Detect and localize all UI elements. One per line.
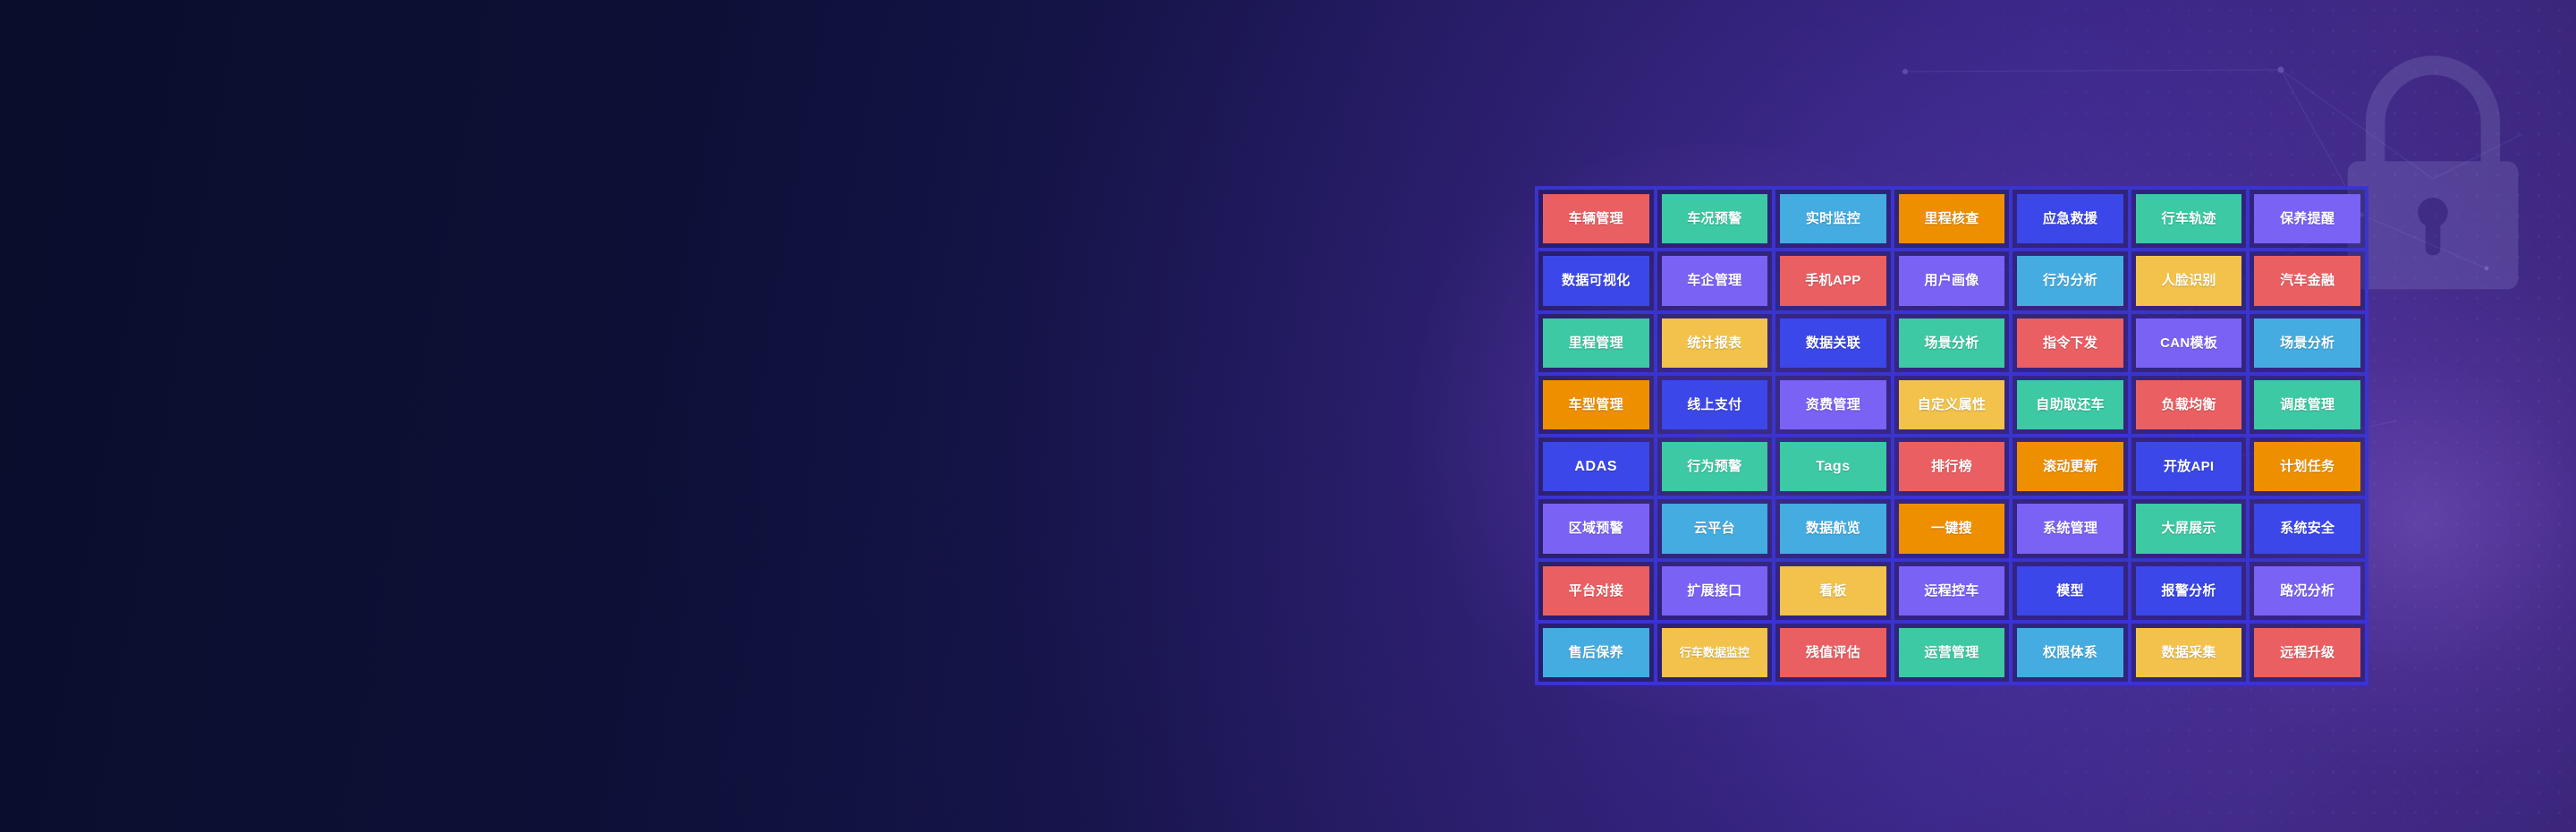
tile-chip[interactable]: 行车数据监控 (1662, 628, 1768, 677)
tile-cell[interactable]: 统计报表 (1656, 312, 1775, 374)
tile-chip[interactable]: 数据采集 (2136, 628, 2242, 677)
tile-cell[interactable]: 排行榜 (1893, 436, 2012, 497)
page-canvas: 车辆管理车况预警实时监控里程核查应急救援行车轨迹保养提醒数据可视化车企管理手机A… (0, 0, 2576, 832)
tile-chip[interactable]: 系统管理 (2017, 504, 2123, 553)
tile-cell[interactable]: 系统管理 (2011, 497, 2130, 559)
tile-cell[interactable]: 场景分析 (2248, 312, 2367, 374)
tile-cell[interactable]: 残值评估 (1774, 622, 1893, 683)
tile-chip[interactable]: 车况预警 (1662, 194, 1768, 243)
tile-cell[interactable]: 里程核查 (1893, 188, 2012, 250)
tile-chip[interactable]: 汽车金融 (2254, 256, 2360, 305)
tile-cell[interactable]: 售后保养 (1537, 622, 1656, 683)
tile-cell[interactable]: 行车数据监控 (1656, 622, 1775, 683)
tile-chip[interactable]: 人脸识别 (2136, 256, 2242, 305)
tile-cell[interactable]: 自定义属性 (1893, 374, 2012, 436)
tile-chip[interactable]: 里程管理 (1543, 318, 1649, 368)
tile-cell[interactable]: 调度管理 (2248, 374, 2367, 436)
tile-cell[interactable]: 数据可视化 (1537, 250, 1656, 311)
tile-chip[interactable]: 指令下发 (2017, 318, 2123, 368)
tile-chip[interactable]: 售后保养 (1543, 628, 1649, 677)
tile-chip[interactable]: 实时监控 (1780, 194, 1886, 243)
tile-chip[interactable]: 远程升级 (2254, 628, 2360, 677)
tile-chip[interactable]: 车型管理 (1543, 380, 1649, 429)
tile-chip[interactable]: 资费管理 (1780, 380, 1886, 429)
tile-cell[interactable]: 车辆管理 (1537, 188, 1656, 250)
tile-chip[interactable]: 场景分析 (2254, 318, 2360, 368)
tile-chip[interactable]: 权限体系 (2017, 628, 2123, 677)
tile-cell[interactable]: 数据关联 (1774, 312, 1893, 374)
tile-chip[interactable]: 报警分析 (2136, 566, 2242, 616)
tile-chip[interactable]: 线上支付 (1662, 380, 1768, 429)
tile-cell[interactable]: 用户画像 (1893, 250, 2012, 311)
tile-chip[interactable]: 运营管理 (1899, 628, 2005, 677)
tile-cell[interactable]: 运营管理 (1893, 622, 2012, 683)
tile-chip[interactable]: Tags (1780, 442, 1886, 491)
tile-cell[interactable]: 系统安全 (2248, 497, 2367, 559)
tile-cell[interactable]: 实时监控 (1774, 188, 1893, 250)
tile-chip[interactable]: 里程核查 (1899, 194, 2005, 243)
tile-chip[interactable]: 用户画像 (1899, 256, 2005, 305)
feature-tile-grid: 车辆管理车况预警实时监控里程核查应急救援行车轨迹保养提醒数据可视化车企管理手机A… (1535, 186, 2368, 685)
tile-cell[interactable]: 汽车金融 (2248, 250, 2367, 311)
tile-cell[interactable]: 开放API (2130, 436, 2249, 497)
tile-cell[interactable]: 场景分析 (1893, 312, 2012, 374)
tile-cell[interactable]: 云平台 (1656, 497, 1775, 559)
tile-cell[interactable]: 权限体系 (2011, 622, 2130, 683)
tile-chip[interactable]: 车企管理 (1662, 256, 1768, 305)
tile-chip[interactable]: 负载均衡 (2136, 380, 2242, 429)
tile-cell[interactable]: Tags (1774, 436, 1893, 497)
tile-chip[interactable]: 排行榜 (1899, 442, 2005, 491)
tile-chip[interactable]: 区域预警 (1543, 504, 1649, 553)
tile-cell[interactable]: 计划任务 (2248, 436, 2367, 497)
tile-chip[interactable]: 行车轨迹 (2136, 194, 2242, 243)
tile-chip[interactable]: 系统安全 (2254, 504, 2360, 553)
tile-chip[interactable]: 滚动更新 (2017, 442, 2123, 491)
tile-chip[interactable]: 平台对接 (1543, 566, 1649, 616)
tile-cell[interactable]: 里程管理 (1537, 312, 1656, 374)
tile-chip[interactable]: 计划任务 (2254, 442, 2360, 491)
tile-cell[interactable]: 手机APP (1774, 250, 1893, 311)
tile-cell[interactable]: 行车轨迹 (2130, 188, 2249, 250)
tile-cell[interactable]: 模型 (2011, 560, 2130, 622)
tile-chip[interactable]: 调度管理 (2254, 380, 2360, 429)
tile-chip[interactable]: ADAS (1543, 442, 1649, 491)
tile-chip[interactable]: 看板 (1780, 566, 1886, 616)
tile-chip[interactable]: 自定义属性 (1899, 380, 2005, 429)
tile-cell[interactable]: 扩展接口 (1656, 560, 1775, 622)
tile-cell[interactable]: 区域预警 (1537, 497, 1656, 559)
tile-cell[interactable]: 线上支付 (1656, 374, 1775, 436)
tile-chip[interactable]: 模型 (2017, 566, 2123, 616)
tile-cell[interactable]: 数据航览 (1774, 497, 1893, 559)
tile-cell[interactable]: 保养提醒 (2248, 188, 2367, 250)
tile-chip[interactable]: 一键搜 (1899, 504, 2005, 553)
tile-chip[interactable]: 数据关联 (1780, 318, 1886, 368)
tile-cell[interactable]: 路况分析 (2248, 560, 2367, 622)
tile-chip[interactable]: 云平台 (1662, 504, 1768, 553)
tile-chip[interactable]: 残值评估 (1780, 628, 1886, 677)
tile-cell[interactable]: 指令下发 (2011, 312, 2130, 374)
tile-cell[interactable]: 资费管理 (1774, 374, 1893, 436)
tile-chip[interactable]: 数据航览 (1780, 504, 1886, 553)
tile-cell[interactable]: 一键搜 (1893, 497, 2012, 559)
tile-cell[interactable]: 车型管理 (1537, 374, 1656, 436)
tile-chip[interactable]: 场景分析 (1899, 318, 2005, 368)
tile-chip[interactable]: 自助取还车 (2017, 380, 2123, 429)
tile-chip[interactable]: 应急救援 (2017, 194, 2123, 243)
tile-cell[interactable]: 应急救援 (2011, 188, 2130, 250)
tile-cell[interactable]: 负载均衡 (2130, 374, 2249, 436)
tile-chip[interactable]: 开放API (2136, 442, 2242, 491)
tile-cell[interactable]: 数据采集 (2130, 622, 2249, 683)
tile-cell[interactable]: 远程控车 (1893, 560, 2012, 622)
tile-chip[interactable]: 路况分析 (2254, 566, 2360, 616)
tile-chip[interactable]: 手机APP (1780, 256, 1886, 305)
tile-cell[interactable]: 车况预警 (1656, 188, 1775, 250)
tile-cell[interactable]: 看板 (1774, 560, 1893, 622)
tile-cell[interactable]: 大屏展示 (2130, 497, 2249, 559)
tile-chip[interactable]: 扩展接口 (1662, 566, 1768, 616)
tile-cell[interactable]: 平台对接 (1537, 560, 1656, 622)
tile-cell[interactable]: 自助取还车 (2011, 374, 2130, 436)
tile-cell[interactable]: 远程升级 (2248, 622, 2367, 683)
tile-cell[interactable]: ADAS (1537, 436, 1656, 497)
tile-cell[interactable]: 人脸识别 (2130, 250, 2249, 311)
tile-cell[interactable]: 行为预警 (1656, 436, 1775, 497)
tile-chip[interactable]: 统计报表 (1662, 318, 1768, 368)
tile-cell[interactable]: CAN模板 (2130, 312, 2249, 374)
tile-chip[interactable]: 行为预警 (1662, 442, 1768, 491)
tile-chip[interactable]: CAN模板 (2136, 318, 2242, 368)
tile-chip[interactable]: 数据可视化 (1543, 256, 1649, 305)
tile-chip[interactable]: 行为分析 (2017, 256, 2123, 305)
tile-chip[interactable]: 保养提醒 (2254, 194, 2360, 243)
tile-chip[interactable]: 大屏展示 (2136, 504, 2242, 553)
tile-chip[interactable]: 远程控车 (1899, 566, 2005, 616)
tile-chip[interactable]: 车辆管理 (1543, 194, 1649, 243)
tile-cell[interactable]: 车企管理 (1656, 250, 1775, 311)
tile-cell[interactable]: 行为分析 (2011, 250, 2130, 311)
tile-cell[interactable]: 报警分析 (2130, 560, 2249, 622)
tile-cell[interactable]: 滚动更新 (2011, 436, 2130, 497)
